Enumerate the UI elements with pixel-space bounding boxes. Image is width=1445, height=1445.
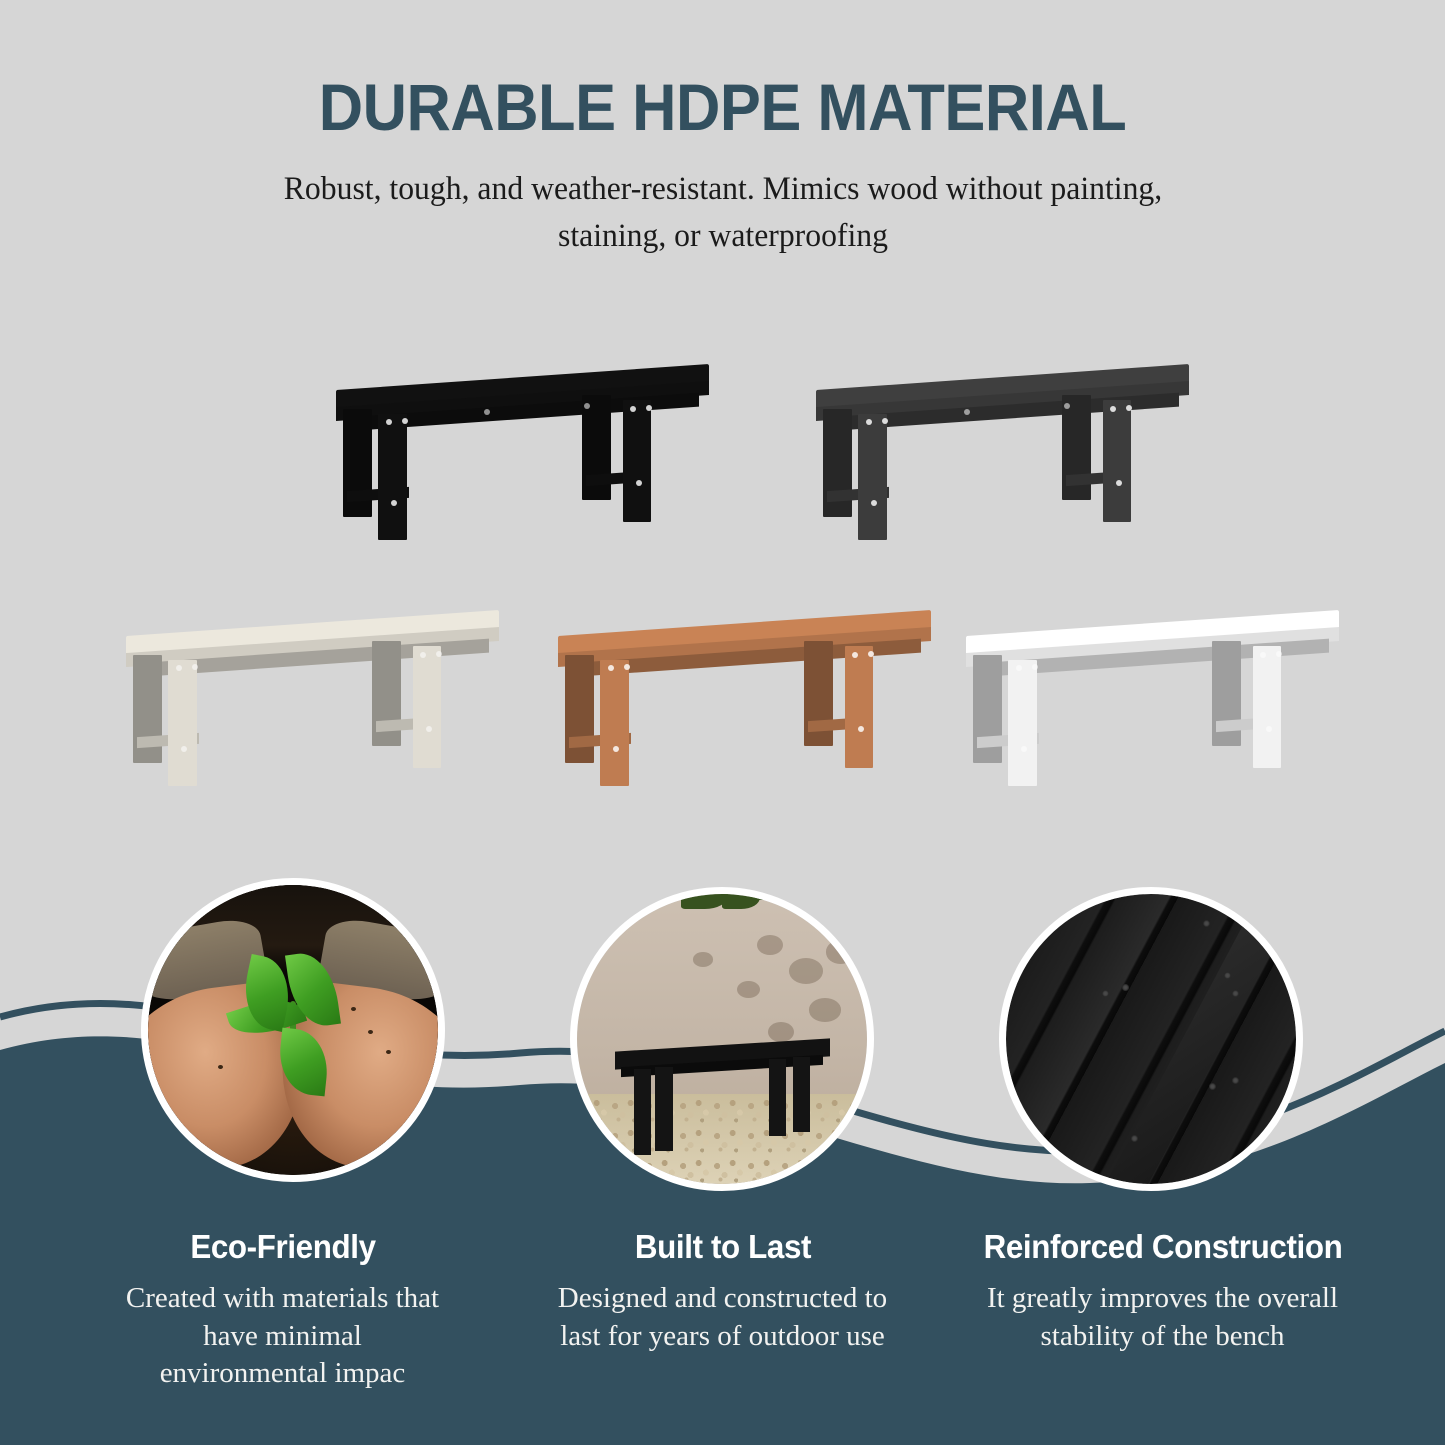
header-section: DURABLE HDPE MATERIAL Robust, tough, and… — [0, 0, 1445, 260]
screw — [1122, 984, 1129, 991]
bench-screw — [1032, 664, 1038, 670]
feature-description: Designed and constructed to last for yea… — [558, 1280, 888, 1355]
bench-screw — [176, 665, 182, 671]
bench-leg-front-right — [1103, 400, 1132, 523]
feature-eco-friendly: Eco-Friendly Created with materials that… — [63, 1228, 503, 1393]
bench-screw — [402, 418, 408, 424]
dappled-shadow — [737, 981, 760, 998]
bench-screw — [1276, 651, 1282, 657]
built-to-last-image — [570, 887, 874, 1191]
reinforced-construction-image — [999, 887, 1303, 1191]
bench-illustration — [330, 370, 715, 545]
bench-leg — [769, 1059, 786, 1136]
bench-leg-front-left — [858, 414, 887, 540]
bench-screw — [386, 419, 392, 425]
bench-option-dark-gray[interactable] — [810, 370, 1195, 545]
screw — [1131, 1135, 1138, 1142]
bench-illustration — [810, 370, 1195, 545]
bench-screw — [181, 746, 187, 752]
screw — [1102, 990, 1109, 997]
bench-screw — [391, 500, 397, 506]
bench-option-beige[interactable] — [120, 616, 505, 791]
bench-leg-front-right — [623, 400, 652, 523]
feature-title: Reinforced Construction — [967, 1228, 1358, 1266]
dappled-shadow — [789, 958, 824, 984]
soil-fleck — [351, 1007, 356, 1011]
bench-screw — [1126, 405, 1132, 411]
bench-screw — [882, 418, 888, 424]
bench-leg-front-left — [168, 660, 197, 786]
bench-leg — [634, 1069, 651, 1155]
bench-illustration — [120, 616, 505, 791]
bench-screw — [624, 664, 630, 670]
bench-leg-front-right — [1253, 646, 1282, 769]
bench-screw — [613, 746, 619, 752]
bench-screw — [436, 651, 442, 657]
bench-screw — [1016, 665, 1022, 671]
feature-image-row — [0, 878, 1445, 1218]
bench-screw — [871, 500, 877, 506]
bench-leg-front-left — [600, 660, 629, 786]
bench-screw — [868, 651, 874, 657]
feature-built-to-last: Built to Last Designed and constructed t… — [503, 1228, 943, 1393]
feature-reinforced-construction: Reinforced Construction It greatly impro… — [943, 1228, 1383, 1393]
bench-screw — [608, 665, 614, 671]
bench-in-photo — [615, 1045, 830, 1155]
bench-leg-front-right — [413, 646, 442, 769]
dappled-shadow — [757, 935, 783, 955]
bench-leg — [655, 1067, 672, 1151]
bench-screw — [192, 664, 198, 670]
feature-description: It greatly improves the overall stabilit… — [983, 1280, 1343, 1355]
screw — [1224, 972, 1231, 979]
bench-leg — [793, 1057, 810, 1132]
screw — [1232, 990, 1239, 997]
dappled-shadow — [809, 998, 841, 1021]
eco-friendly-image — [141, 878, 445, 1182]
feature-title: Eco-Friendly — [87, 1228, 478, 1266]
feature-title: Built to Last — [527, 1228, 918, 1266]
bench-screw — [646, 405, 652, 411]
page-subtitle: Robust, tough, and weather-resistant. Mi… — [252, 166, 1193, 260]
bench-leg-front-left — [1008, 660, 1037, 786]
screw — [1232, 1077, 1239, 1084]
bench-leg-front-right — [845, 646, 874, 769]
bench-illustration — [552, 616, 937, 791]
screw — [1209, 1083, 1216, 1090]
bench-option-white[interactable] — [960, 616, 1345, 791]
black-bench-outdoors-icon — [577, 894, 867, 1184]
hands-holding-seedling-icon — [148, 885, 438, 1175]
dappled-shadow — [826, 940, 855, 963]
page-title: DURABLE HDPE MATERIAL — [51, 74, 1395, 140]
bench-illustration — [960, 616, 1345, 791]
soil-fleck — [218, 1065, 223, 1069]
bench-option-black[interactable] — [330, 370, 715, 545]
bench-screw — [1021, 746, 1027, 752]
features-section: Eco-Friendly Created with materials that… — [0, 1228, 1445, 1393]
bench-leg-front-left — [378, 414, 407, 540]
bench-screw — [866, 419, 872, 425]
bench-option-terracotta[interactable] — [552, 616, 937, 791]
dappled-shadow — [693, 952, 713, 967]
bench-slat-closeup-icon — [1006, 894, 1296, 1184]
product-bench-gallery — [0, 340, 1445, 870]
feature-description: Created with materials that have minimal… — [118, 1280, 448, 1393]
